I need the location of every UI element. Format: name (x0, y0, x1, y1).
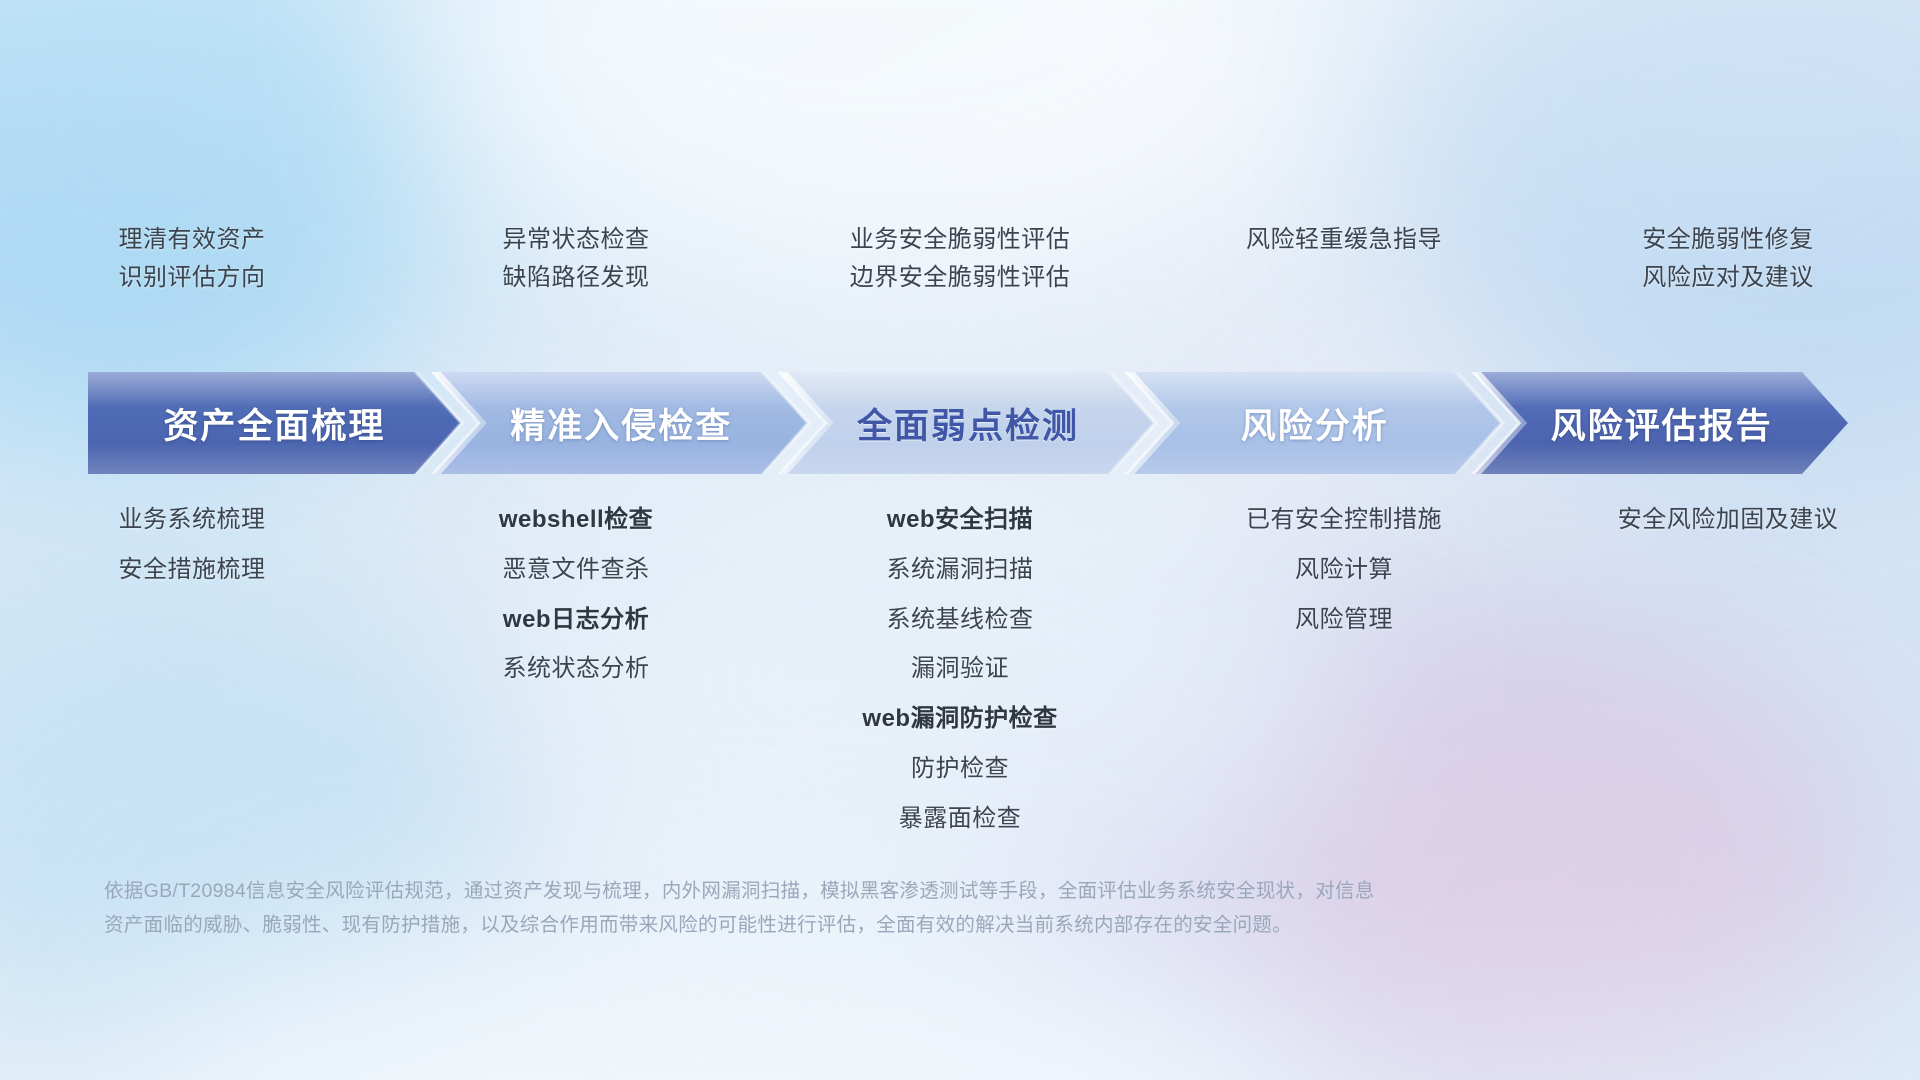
stage-title: 全面弱点检测 (857, 398, 1079, 449)
bottom-items-stage-2: webshell检查 恶意文件查杀 web日志分析 系统状态分析 (384, 500, 768, 689)
list-item: 风险管理 (1295, 600, 1393, 640)
bottom-item-row: 业务系统梳理 安全措施梳理 webshell检查 恶意文件查杀 web日志分析 … (0, 500, 1920, 839)
stage-title: 风险评估报告 (1551, 398, 1773, 449)
top-captions-stage-4: 风险轻重缓急指导 (1152, 228, 1536, 290)
stage-title: 风险分析 (1241, 398, 1389, 449)
top-caption-row: 理清有效资产 识别评估方向 异常状态检查 缺陷路径发现 业务安全脆弱性评估 边界… (0, 228, 1920, 290)
bottom-items-stage-4: 已有安全控制措施 风险计算 风险管理 (1152, 500, 1536, 639)
bottom-items-stage-1: 业务系统梳理 安全措施梳理 (0, 500, 384, 590)
top-caption: 风险应对及建议 (1642, 266, 1814, 290)
list-item: 系统漏洞扫描 (887, 550, 1034, 590)
stage-title: 精准入侵检查 (510, 398, 732, 449)
top-caption: 边界安全脆弱性评估 (850, 266, 1071, 290)
stage-chevron-asset-inventory[interactable]: 资产全面梳理 (88, 372, 461, 474)
list-item: web漏洞防护检查 (862, 699, 1057, 739)
stage-chevron-risk-analysis[interactable]: 风险分析 (1128, 372, 1501, 474)
top-caption: 理清有效资产 (119, 228, 266, 252)
top-captions-stage-3: 业务安全脆弱性评估 边界安全脆弱性评估 (768, 228, 1152, 290)
list-item: 业务系统梳理 (119, 500, 266, 540)
top-caption: 安全脆弱性修复 (1642, 228, 1814, 252)
footer-line-2: 资产面临的威胁、脆弱性、现有防护措施，以及综合作用而带来风险的可能性进行评估，全… (104, 908, 1824, 942)
list-item: 安全措施梳理 (119, 550, 266, 590)
stage-title: 资产全面梳理 (163, 398, 385, 449)
list-item: webshell检查 (499, 500, 653, 540)
bottom-items-stage-5: 安全风险加固及建议 (1536, 500, 1920, 540)
footer-line-1: 依据GB/T20984信息安全风险评估规范，通过资产发现与梳理，内外网漏洞扫描，… (104, 874, 1824, 908)
top-caption: 缺陷路径发现 (503, 266, 650, 290)
stage-chevron-risk-report[interactable]: 风险评估报告 (1475, 372, 1848, 474)
list-item: 系统基线检查 (887, 600, 1034, 640)
bottom-items-stage-3: web安全扫描 系统漏洞扫描 系统基线检查 漏洞验证 web漏洞防护检查 防护检… (768, 500, 1152, 839)
top-captions-stage-5: 安全脆弱性修复 风险应对及建议 (1536, 228, 1920, 290)
list-item: 恶意文件查杀 (503, 550, 650, 590)
top-caption: 业务安全脆弱性评估 (850, 228, 1071, 252)
top-caption: 风险轻重缓急指导 (1246, 228, 1442, 252)
list-item: 安全风险加固及建议 (1618, 500, 1839, 540)
list-item: 已有安全控制措施 (1246, 500, 1442, 540)
top-caption: 异常状态检查 (503, 228, 650, 252)
list-item: web安全扫描 (887, 500, 1033, 540)
process-diagram: 理清有效资产 识别评估方向 异常状态检查 缺陷路径发现 业务安全脆弱性评估 边界… (0, 0, 1920, 1080)
top-captions-stage-2: 异常状态检查 缺陷路径发现 (384, 228, 768, 290)
stage-chevron-intrusion-check[interactable]: 精准入侵检查 (435, 372, 808, 474)
list-item: 防护检查 (911, 749, 1009, 789)
list-item: 暴露面检查 (899, 799, 1022, 839)
top-caption: 识别评估方向 (119, 266, 266, 290)
top-captions-stage-1: 理清有效资产 识别评估方向 (0, 228, 384, 290)
list-item: 漏洞验证 (911, 649, 1009, 689)
stage-chevron-weakness-detection[interactable]: 全面弱点检测 (782, 372, 1155, 474)
footer-description: 依据GB/T20984信息安全风险评估规范，通过资产发现与梳理，内外网漏洞扫描，… (104, 874, 1824, 942)
stage-chevron-strip: 资产全面梳理 精准入侵检查 全面弱点检测 风险分析 (88, 372, 1848, 474)
list-item: web日志分析 (503, 600, 649, 640)
list-item: 风险计算 (1295, 550, 1393, 590)
list-item: 系统状态分析 (503, 649, 650, 689)
